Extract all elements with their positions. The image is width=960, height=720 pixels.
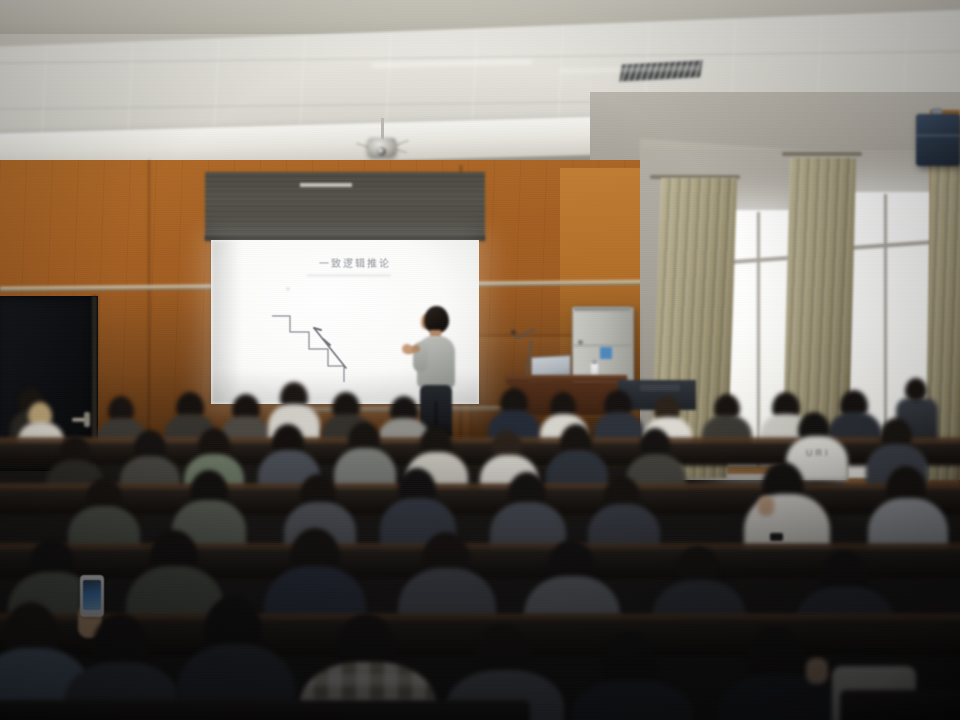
cabinet-knob-icon[interactable] (578, 340, 583, 345)
slide-title-text: 一致逻辑推论 (305, 258, 405, 272)
screen-valance-glare (300, 183, 352, 187)
projector-lens-icon (377, 147, 386, 156)
slide-title-underline (307, 275, 391, 276)
cabinet-panel-seam (572, 345, 632, 346)
presenter-head (424, 306, 449, 333)
audience-shadow-overlay (0, 430, 960, 720)
cabinet-top-edge (574, 307, 630, 311)
lecture-hall-photo: 一致逻辑推论 (0, 0, 960, 720)
air-vent-icon (61, 55, 173, 81)
slide-annotation-dot (287, 288, 289, 290)
curtain-rod (782, 152, 862, 156)
wall-speaker-icon (916, 114, 960, 166)
air-vent-icon (739, 67, 847, 93)
cabinet-display-icon (600, 347, 612, 359)
projector-mount-rod (381, 118, 384, 140)
presenter-hand (402, 344, 412, 354)
microphone-icon (511, 330, 516, 335)
speaker-highlight (916, 134, 960, 137)
bottle-cap (592, 360, 597, 364)
